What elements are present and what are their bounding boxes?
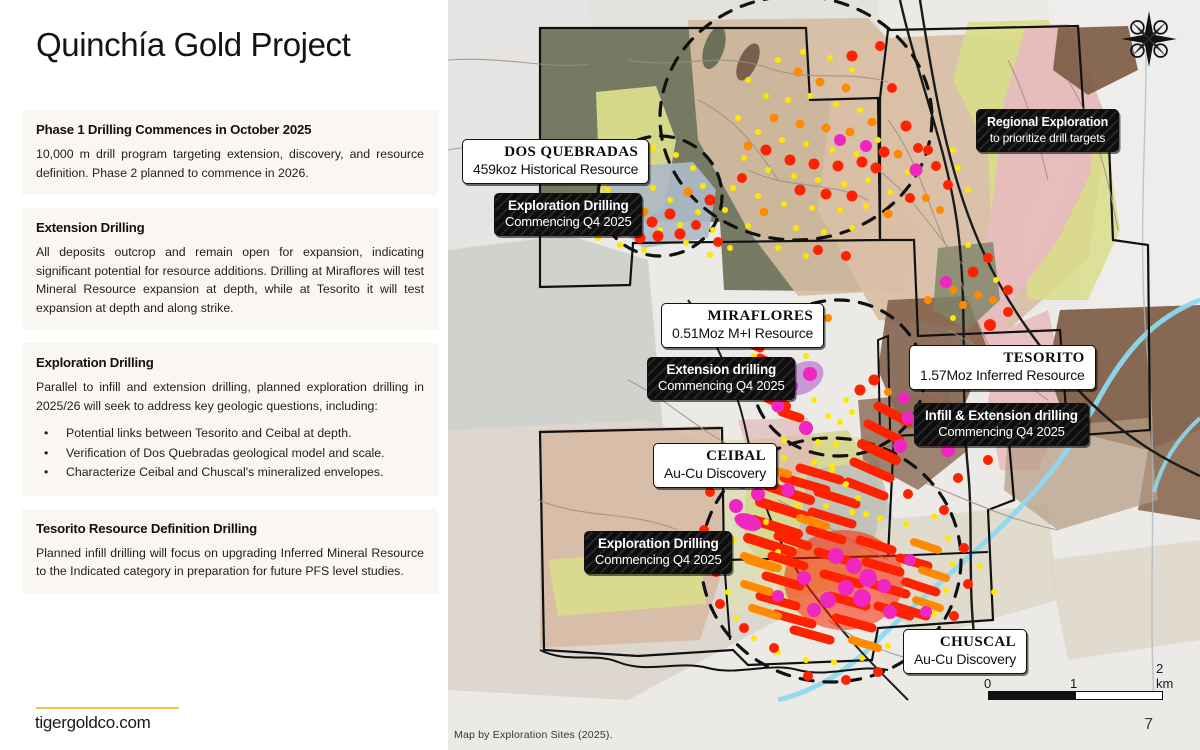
deposit-detail: 459koz Historical Resource [473, 161, 638, 178]
list-item: • Potential links between Tesorito and C… [36, 424, 424, 443]
activity-timing: Commencing Q4 2025 [925, 424, 1078, 440]
activity-label-miraflores-extension[interactable]: Extension drilling Commencing Q4 2025 [647, 357, 795, 400]
deposit-label-tesorito[interactable]: TESORITO 1.57Moz Inferred Resource [909, 345, 1096, 390]
info-card-extension-drilling: Extension Drilling All deposits outcrop … [22, 208, 438, 330]
bullet-icon: • [36, 444, 66, 463]
map-attribution: Map by Exploration Sites (2025). [454, 729, 613, 741]
info-card-list: Phase 1 Drilling Commences in October 20… [22, 110, 438, 607]
list-item: • Characterize Ceibal and Chuscal's mine… [36, 463, 424, 482]
activity-title: Exploration Drilling [505, 198, 631, 214]
page-number: 7 [1144, 716, 1153, 734]
activity-label-ceibal-exploration[interactable]: Exploration Drilling Commencing Q4 2025 [584, 531, 732, 574]
deposit-detail: 1.57Moz Inferred Resource [920, 367, 1085, 384]
deposit-detail: Au-Cu Discovery [664, 465, 766, 482]
bullet-icon: • [36, 424, 66, 443]
deposit-label-ceibal[interactable]: CEIBAL Au-Cu Discovery [653, 443, 777, 488]
info-card-exploration-drilling: Exploration Drilling Parallel to infill … [22, 343, 438, 496]
activity-label-tesorito-infill-extension[interactable]: Infill & Extension drilling Commencing Q… [914, 403, 1089, 446]
deposit-name: TESORITO [920, 350, 1085, 367]
deposit-name: DOS QUEBRADAS [473, 144, 638, 161]
card-body: 10,000 m drill program targeting extensi… [36, 145, 424, 182]
card-title: Exploration Drilling [36, 355, 424, 370]
activity-timing: Commencing Q4 2025 [595, 552, 721, 568]
deposit-name: CHUSCAL [914, 634, 1016, 651]
footer-accent-rule [36, 707, 179, 709]
activity-timing: Commencing Q4 2025 [658, 378, 784, 394]
deposit-name: MIRAFLORES [672, 308, 813, 325]
bullet-icon: • [36, 463, 66, 482]
card-title: Extension Drilling [36, 220, 424, 235]
deposit-label-miraflores[interactable]: MIRAFLORES 0.51Moz M+I Resource [661, 303, 824, 348]
activity-title: Exploration Drilling [595, 536, 721, 552]
list-item-label: Verification of Dos Quebradas geological… [66, 444, 424, 463]
deposit-label-dos-quebradas[interactable]: DOS QUEBRADAS 459koz Historical Resource [462, 139, 649, 184]
scale-segment-filled [989, 692, 1076, 699]
deposit-label-chuscal[interactable]: CHUSCAL Au-Cu Discovery [903, 629, 1027, 674]
slide-root: Quinchía Gold Project Phase 1 Drilling C… [0, 0, 1200, 750]
deposit-detail: 0.51Moz M+I Resource [672, 325, 813, 342]
card-body: Parallel to infill and extension drillin… [36, 378, 424, 415]
scale-segment-empty [1076, 692, 1163, 699]
deposit-detail: Au-Cu Discovery [914, 651, 1016, 668]
scale-track [988, 691, 1163, 700]
footer-website[interactable]: tigergoldco.com [35, 713, 151, 733]
card-title: Phase 1 Drilling Commences in October 20… [36, 122, 424, 137]
compass-rose-icon [1120, 10, 1178, 68]
card-bullet-list: • Potential links between Tesorito and C… [36, 424, 424, 482]
activity-label-regional-exploration[interactable]: Regional Exploration to prioritize drill… [976, 109, 1119, 152]
deposit-name: CEIBAL [664, 448, 766, 465]
info-card-tesorito-resource: Tesorito Resource Definition Drilling Pl… [22, 509, 438, 594]
list-item-label: Characterize Ceibal and Chuscal's minera… [66, 463, 424, 482]
list-item-label: Potential links between Tesorito and Cei… [66, 424, 424, 443]
activity-timing: Commencing Q4 2025 [505, 214, 631, 230]
info-card-phase1: Phase 1 Drilling Commences in October 20… [22, 110, 438, 195]
map-scale-bar: 0 1 2 km [988, 676, 1163, 700]
card-body: All deposits outcrop and remain open for… [36, 243, 424, 317]
activity-title: Regional Exploration [987, 114, 1108, 130]
card-body: Planned infill drilling will focus on up… [36, 544, 424, 581]
scale-tick-2: 2 km [1156, 661, 1173, 691]
scale-tick-labels: 0 1 2 km [988, 676, 1163, 691]
geology-map[interactable]: DOS QUEBRADAS 459koz Historical Resource… [448, 0, 1200, 750]
activity-timing: to prioritize drill targets [987, 130, 1108, 146]
scale-tick-1: 1 [1070, 676, 1077, 691]
page-title: Quinchía Gold Project [36, 26, 350, 64]
list-item: • Verification of Dos Quebradas geologic… [36, 444, 424, 463]
card-title: Tesorito Resource Definition Drilling [36, 521, 424, 536]
left-content-panel: Quinchía Gold Project Phase 1 Drilling C… [0, 0, 448, 750]
activity-title: Infill & Extension drilling [925, 408, 1078, 424]
activity-title: Extension drilling [658, 362, 784, 378]
activity-label-dos-quebradas-exploration[interactable]: Exploration Drilling Commencing Q4 2025 [494, 193, 642, 236]
scale-tick-0: 0 [984, 676, 991, 691]
